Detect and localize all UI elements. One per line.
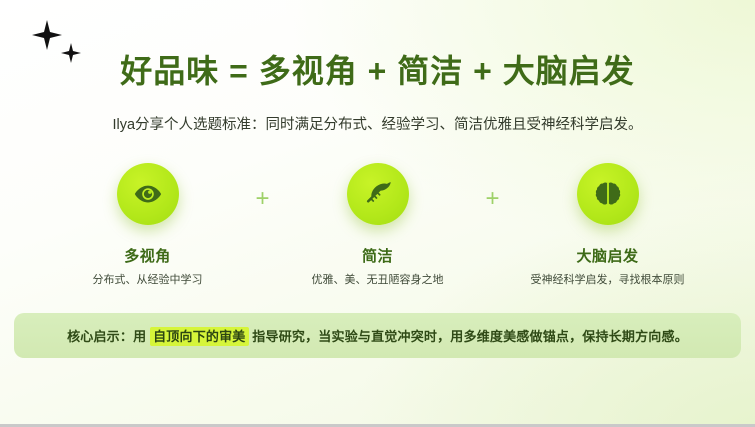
- eye-icon: [133, 179, 163, 209]
- sparkle-icon-large: [32, 20, 62, 50]
- page-title: 好品味 = 多视角 + 简洁 + 大脑启发: [0, 52, 755, 90]
- separator-plus-1: +: [233, 187, 293, 211]
- pillars-row: 多视角 分布式、从经验中学习 + 简洁 优雅、美、无丑陋容身之地 +: [40, 163, 715, 288]
- pillar-icon-badge: [347, 163, 409, 225]
- pillar-description: 分布式、从经验中学习: [93, 273, 203, 288]
- pillar-label: 大脑启发: [576, 245, 638, 266]
- pillar-label: 多视角: [124, 245, 171, 266]
- pillar-simplicity: 简洁 优雅、美、无丑陋容身之地: [293, 163, 463, 288]
- pillar-icon-badge: [117, 163, 179, 225]
- feather-icon: [363, 179, 393, 209]
- pillar-brain-inspired: 大脑启发 受神经科学启发，寻找根本原则: [523, 163, 693, 288]
- separator-plus-2: +: [463, 187, 523, 211]
- pillar-icon-badge: [577, 163, 639, 225]
- callout-prefix: 核心启示：用: [67, 329, 150, 344]
- callout-highlight: 自顶向下的审美: [150, 327, 248, 346]
- slide-canvas: 好品味 = 多视角 + 简洁 + 大脑启发 Ilya分享个人选题标准：同时满足分…: [0, 0, 755, 427]
- pillar-description: 受神经科学启发，寻找根本原则: [531, 273, 685, 288]
- callout-text: 核心启示：用 自顶向下的审美 指导研究，当实验与直觉冲突时，用多维度美感做锚点，…: [67, 326, 688, 345]
- callout-suffix: 指导研究，当实验与直觉冲突时，用多维度美感做锚点，保持长期方向感。: [249, 329, 688, 344]
- pillar-label: 简洁: [362, 245, 393, 266]
- page-subtitle: Ilya分享个人选题标准：同时满足分布式、经验学习、简洁优雅且受神经科学启发。: [0, 115, 755, 135]
- pillar-description: 优雅、美、无丑陋容身之地: [312, 273, 444, 288]
- key-insight-callout: 核心启示：用 自顶向下的审美 指导研究，当实验与直觉冲突时，用多维度美感做锚点，…: [14, 313, 741, 358]
- brain-icon: [593, 179, 623, 209]
- pillar-perspective: 多视角 分布式、从经验中学习: [63, 163, 233, 288]
